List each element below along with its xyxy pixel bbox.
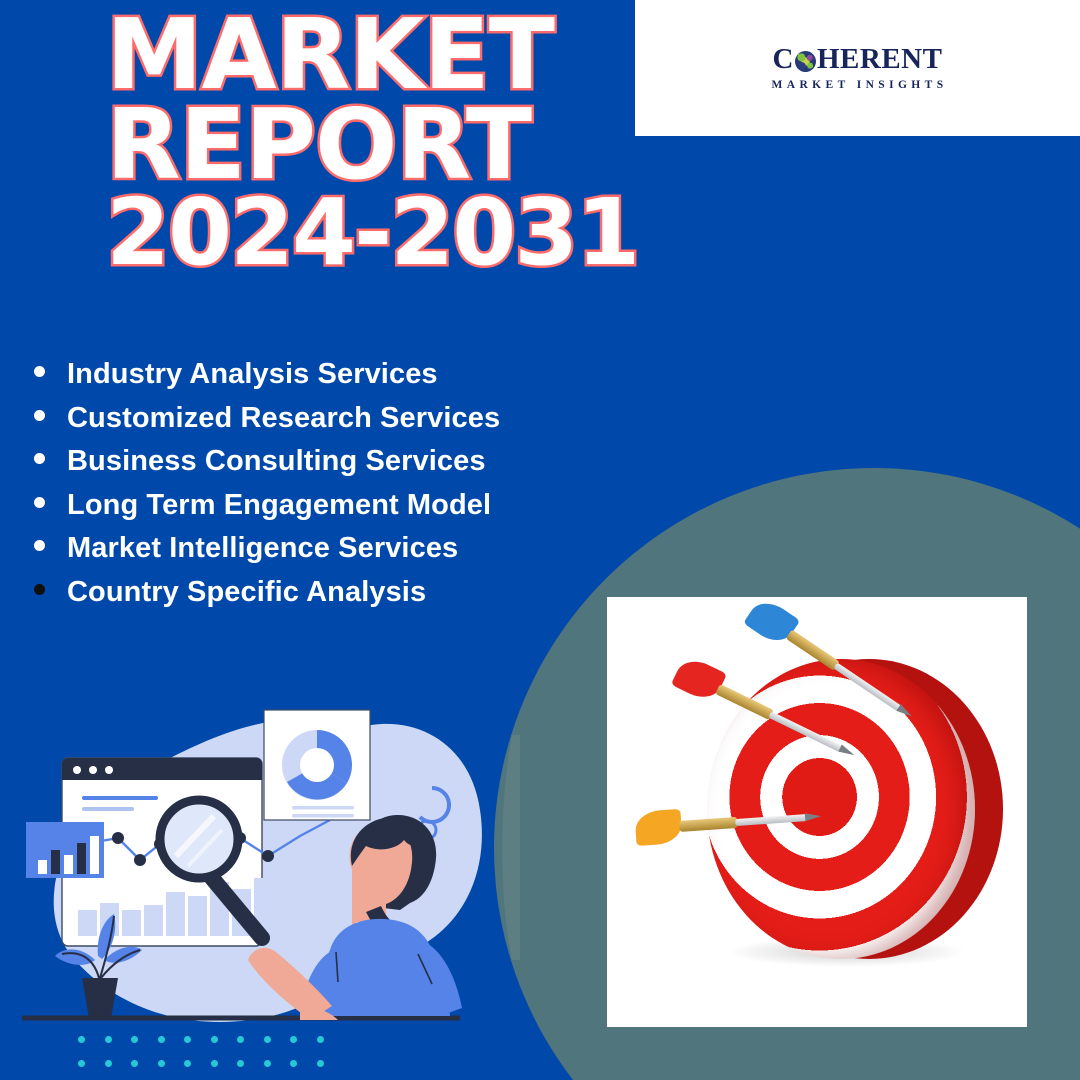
grid-dot bbox=[105, 1060, 112, 1067]
grid-dot bbox=[317, 1060, 324, 1067]
list-item-label: Country Specific Analysis bbox=[67, 578, 426, 607]
grid-dot bbox=[131, 1060, 138, 1067]
bullet-dot-icon bbox=[34, 366, 45, 377]
list-item-label: Market Intelligence Services bbox=[67, 534, 458, 563]
grid-dot bbox=[237, 1036, 244, 1043]
list-item: Long Term Engagement Model bbox=[34, 491, 500, 520]
list-item-label: Business Consulting Services bbox=[67, 447, 486, 476]
grid-dot bbox=[317, 1036, 324, 1043]
logo-wordmark: C HERENT bbox=[773, 45, 943, 74]
logo: C HERENT MARKET INSIGHTS bbox=[767, 45, 947, 91]
list-item: Customized Research Services bbox=[34, 404, 500, 433]
grid-dot bbox=[211, 1060, 218, 1067]
grid-dot bbox=[78, 1036, 85, 1043]
grid-dot bbox=[78, 1060, 85, 1067]
services-list: Industry Analysis Services Customized Re… bbox=[34, 360, 500, 621]
list-item: Industry Analysis Services bbox=[34, 360, 500, 389]
bullet-dot-icon bbox=[34, 497, 45, 508]
headline-line-3: 2024-2031 bbox=[106, 190, 686, 276]
dartboard-illustration bbox=[607, 597, 1027, 1027]
logo-tagline: MARKET INSIGHTS bbox=[767, 79, 947, 91]
grid-dot bbox=[158, 1060, 165, 1067]
bar-chart-badge bbox=[26, 822, 104, 878]
market-analysis-illustration bbox=[0, 660, 520, 1080]
bullet-dot-icon bbox=[34, 453, 45, 464]
list-item-label: Long Term Engagement Model bbox=[67, 491, 491, 520]
logo-panel: C HERENT MARKET INSIGHTS bbox=[635, 0, 1080, 136]
dot-grid-decoration bbox=[78, 1036, 328, 1074]
logo-letters-herent: HERENT bbox=[817, 45, 942, 74]
list-item-label: Industry Analysis Services bbox=[67, 360, 438, 389]
headline-line-1: MARKET bbox=[106, 10, 686, 100]
headline-block: MARKET REPORT 2024-2031 bbox=[106, 10, 686, 276]
dartboard-image-card bbox=[607, 597, 1027, 1027]
grid-dot bbox=[184, 1060, 191, 1067]
bullet-dot-icon bbox=[34, 540, 45, 551]
list-item: Country Specific Analysis bbox=[34, 578, 500, 607]
grid-dot bbox=[105, 1036, 112, 1043]
bullet-dot-icon bbox=[34, 584, 45, 595]
logo-letter-c: C bbox=[773, 45, 794, 74]
list-item: Business Consulting Services bbox=[34, 447, 500, 476]
grid-dot bbox=[211, 1036, 218, 1043]
grid-dot bbox=[290, 1060, 297, 1067]
grid-dot bbox=[131, 1036, 138, 1043]
grid-dot bbox=[264, 1036, 271, 1043]
grid-dot bbox=[184, 1036, 191, 1043]
grid-dot bbox=[237, 1060, 244, 1067]
bullet-dot-icon bbox=[34, 410, 45, 421]
list-item: Market Intelligence Services bbox=[34, 534, 500, 563]
globe-icon bbox=[795, 51, 816, 72]
market-report-poster: MARKET REPORT 2024-2031 C HERENT MARKET … bbox=[0, 0, 1080, 1080]
headline-line-2: REPORT bbox=[106, 100, 686, 190]
grid-dot bbox=[290, 1036, 297, 1043]
list-item-label: Customized Research Services bbox=[67, 404, 500, 433]
grid-dot bbox=[264, 1060, 271, 1067]
grid-dot bbox=[158, 1036, 165, 1043]
donut-chart-card bbox=[264, 710, 370, 820]
